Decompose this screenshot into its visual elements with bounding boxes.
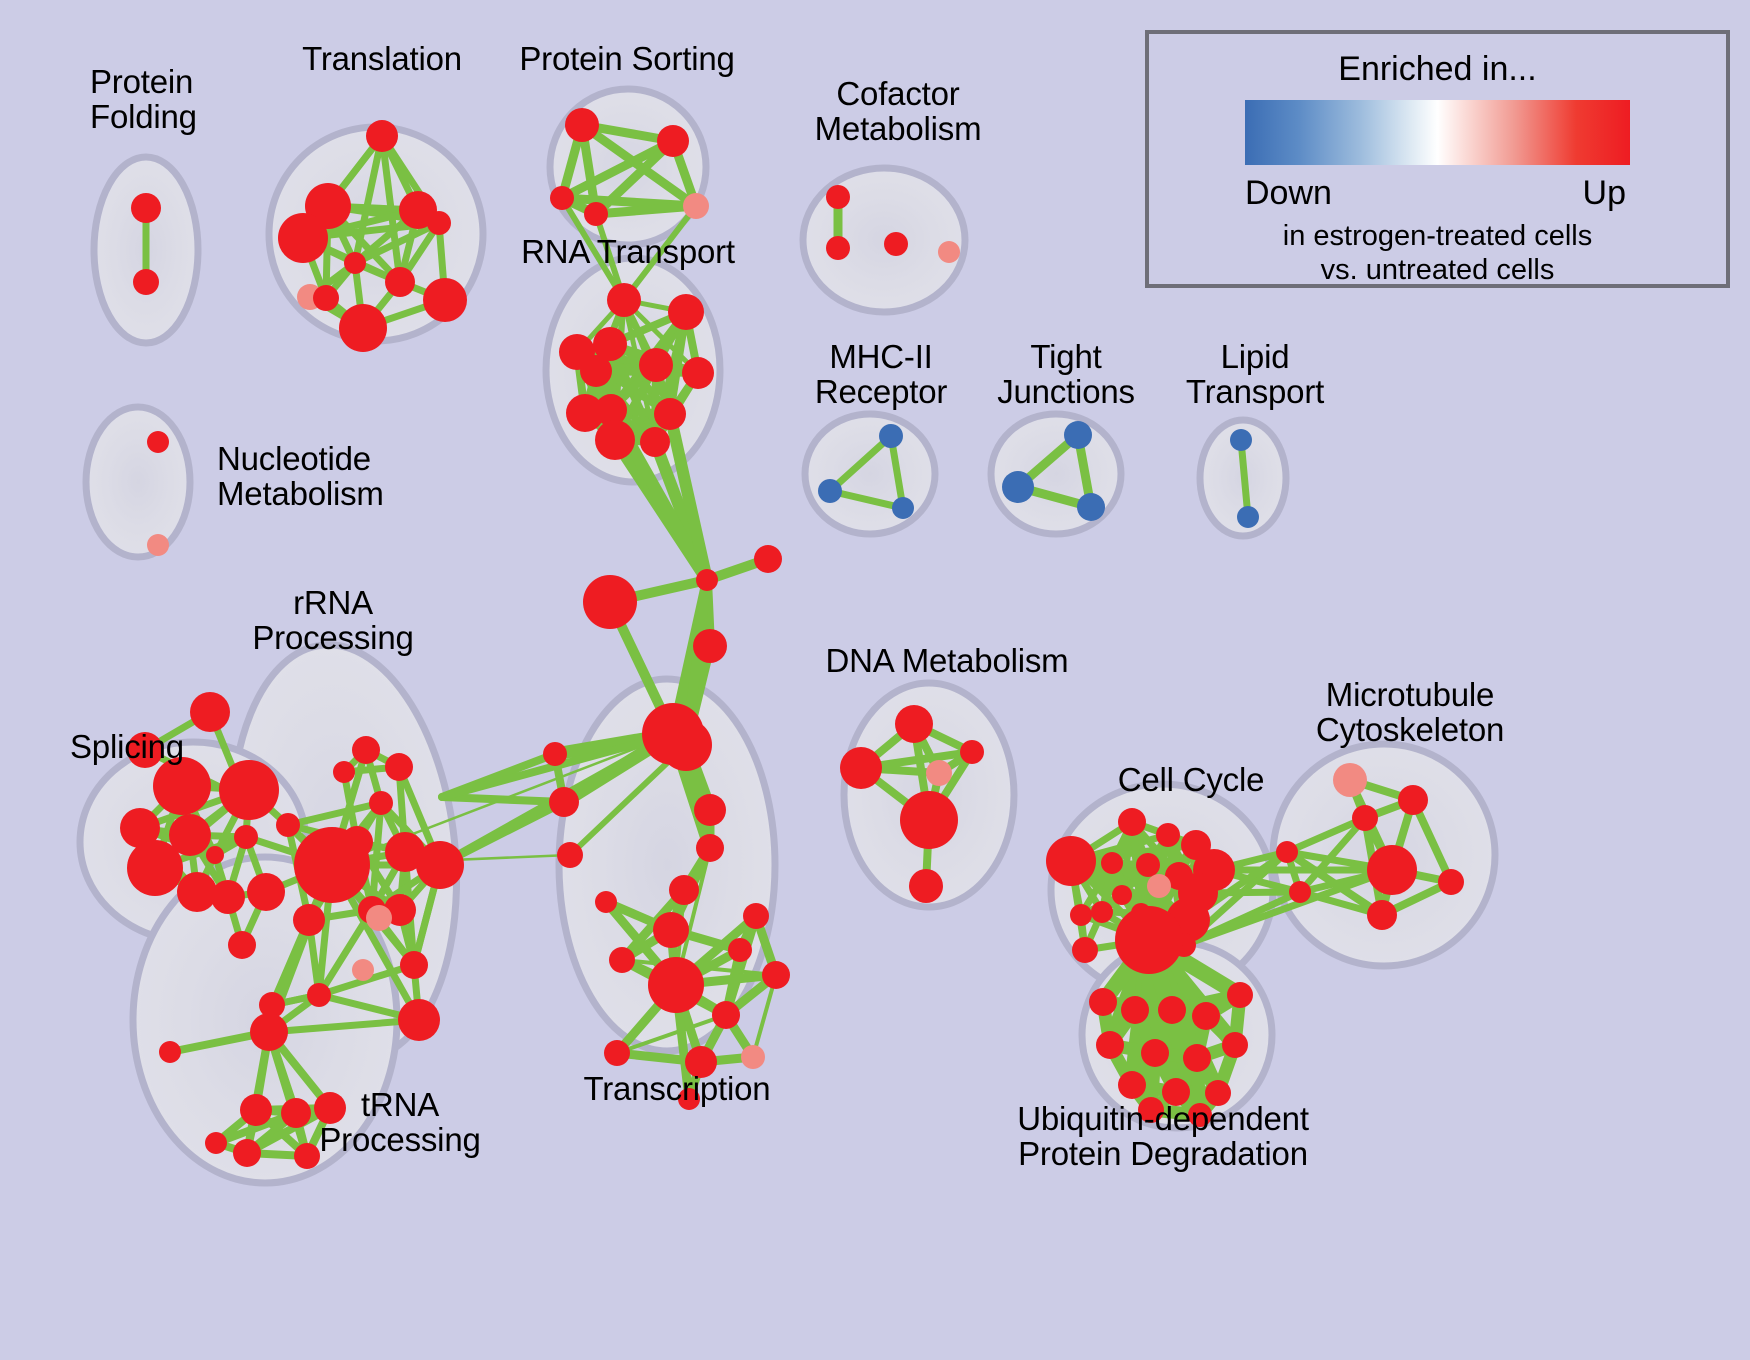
node (926, 760, 952, 786)
node (1136, 853, 1160, 877)
hull-cofactor-metabolism (803, 168, 965, 312)
node (609, 947, 635, 973)
enrichment-map-figure: Protein Folding Translation Protein Sort… (0, 0, 1750, 1360)
node (1333, 763, 1367, 797)
node (669, 875, 699, 905)
node (580, 355, 612, 387)
node (247, 873, 285, 911)
node (1089, 988, 1117, 1016)
node (400, 951, 428, 979)
node (826, 185, 850, 209)
cluster-label-nucleotide-metabolism: Nucleotide Metabolism (217, 442, 384, 512)
node (427, 211, 451, 235)
cluster-label-trna-processing: tRNA Processing (319, 1088, 480, 1158)
node (668, 294, 704, 330)
node (640, 427, 670, 457)
node (550, 186, 574, 210)
node (595, 420, 635, 460)
node (557, 842, 583, 868)
cluster-label-rna-transport: RNA Transport (521, 235, 735, 270)
node (1183, 1044, 1211, 1072)
node (754, 545, 782, 573)
node (960, 740, 984, 764)
node (762, 961, 790, 989)
node (423, 278, 467, 322)
node (648, 957, 704, 1013)
node (683, 193, 709, 219)
node (278, 213, 328, 263)
cluster-label-dna-metabolism: DNA Metabolism (826, 644, 1069, 679)
node (884, 232, 908, 256)
node (743, 903, 769, 929)
node (276, 813, 300, 837)
node (728, 938, 752, 962)
node (366, 120, 398, 152)
node (385, 267, 415, 297)
node (696, 569, 718, 591)
cluster-label-protein-sorting: Protein Sorting (519, 42, 734, 77)
node (1158, 996, 1186, 1024)
node (694, 794, 726, 826)
node (840, 747, 882, 789)
node (909, 869, 943, 903)
node (190, 692, 230, 732)
node (385, 753, 413, 781)
node (131, 193, 161, 223)
node (147, 431, 169, 453)
node (712, 1001, 740, 1029)
node (352, 959, 374, 981)
cluster-label-transcription: Transcription (584, 1072, 771, 1107)
cluster-label-tight-junctions: Tight Junctions (997, 340, 1135, 410)
node (1064, 421, 1092, 449)
node (206, 846, 224, 864)
cluster-label-ubiquitin-degradation: Ubiquitin-dependent Protein Degradation (1017, 1102, 1309, 1172)
node (565, 108, 599, 142)
node (1096, 1031, 1124, 1059)
node (607, 283, 641, 317)
node (211, 880, 245, 914)
legend-subtitle-line1: in estrogen-treated cells (1149, 220, 1726, 253)
node (682, 357, 714, 389)
cluster-label-lipid-transport: Lipid Transport (1186, 340, 1324, 410)
node (369, 791, 393, 815)
node (281, 1098, 311, 1128)
node (595, 891, 617, 913)
node (1276, 841, 1298, 863)
node (1230, 429, 1252, 451)
node (895, 705, 933, 743)
node (159, 1041, 181, 1063)
node (1367, 845, 1417, 895)
cluster-label-protein-folding: Protein Folding (90, 65, 197, 135)
node (1002, 471, 1034, 503)
node (313, 285, 339, 311)
cluster-label-translation: Translation (302, 42, 462, 77)
node (639, 348, 673, 382)
node (654, 398, 686, 430)
cluster-label-splicing: Splicing (70, 730, 184, 765)
node (228, 931, 256, 959)
node (1192, 1002, 1220, 1030)
node (1352, 805, 1378, 831)
cluster-label-cell-cycle: Cell Cycle (1118, 763, 1265, 798)
node (879, 424, 903, 448)
node (177, 872, 217, 912)
node (1118, 1071, 1146, 1099)
node (657, 125, 689, 157)
node (240, 1094, 272, 1126)
node (900, 791, 958, 849)
node (1112, 885, 1132, 905)
node (1046, 836, 1096, 886)
node (385, 832, 425, 872)
legend-color-gradient-bar (1245, 100, 1630, 165)
node (1077, 493, 1105, 521)
node (1398, 785, 1428, 815)
node (584, 202, 608, 226)
network-canvas: Protein Folding Translation Protein Sort… (10, 10, 1740, 1350)
legend-down-label: Down (1245, 174, 1332, 213)
node (333, 761, 355, 783)
node (234, 825, 258, 849)
node (307, 983, 331, 1007)
node (352, 736, 380, 764)
node (604, 1040, 630, 1066)
node (1222, 1032, 1248, 1058)
cluster-label-mhc-ii-receptor: MHC-II Receptor (815, 340, 947, 410)
legend-up-label: Up (1583, 174, 1626, 213)
node (1118, 808, 1146, 836)
node (205, 1132, 227, 1154)
node (1367, 900, 1397, 930)
legend-subtitle-line2: vs. untreated cells (1149, 254, 1726, 287)
cluster-label-microtubule-cytoskeleton: Microtubule Cytoskeleton (1316, 678, 1504, 748)
node (1101, 852, 1123, 874)
node (250, 1013, 288, 1051)
legend-title: Enriched in... (1149, 50, 1726, 89)
node (549, 787, 579, 817)
node (1091, 901, 1113, 923)
node (938, 241, 960, 263)
node (339, 304, 387, 352)
node (366, 905, 392, 931)
node (892, 497, 914, 519)
node (153, 757, 211, 815)
node (583, 575, 637, 629)
hull-mhc-ii-receptor (805, 414, 935, 534)
node (1141, 1039, 1169, 1067)
node (219, 760, 279, 820)
node (1227, 982, 1253, 1008)
node (294, 1143, 320, 1169)
node (1072, 937, 1098, 963)
node (1115, 906, 1183, 974)
node (398, 999, 440, 1041)
node (1438, 869, 1464, 895)
node (294, 827, 370, 903)
cluster-label-cofactor-metabolism: Cofactor Metabolism (815, 77, 982, 147)
node (133, 269, 159, 295)
hull-nucleotide-metabolism (86, 407, 190, 557)
node (696, 834, 724, 862)
node (826, 236, 850, 260)
legend-box: Enriched in... Down Up in estrogen-treat… (1145, 30, 1730, 288)
node (660, 719, 712, 771)
node (344, 252, 366, 274)
node (693, 629, 727, 663)
node (233, 1139, 261, 1167)
node (1156, 823, 1180, 847)
node (741, 1045, 765, 1069)
node (127, 840, 183, 896)
node (543, 742, 567, 766)
node (818, 479, 842, 503)
node (1147, 874, 1171, 898)
cluster-label-rrna-processing: rRNA Processing (252, 586, 413, 656)
node (653, 912, 689, 948)
node (1070, 904, 1092, 926)
node (1237, 506, 1259, 528)
node (293, 904, 325, 936)
node (1289, 881, 1311, 903)
node (147, 534, 169, 556)
node (1121, 996, 1149, 1024)
